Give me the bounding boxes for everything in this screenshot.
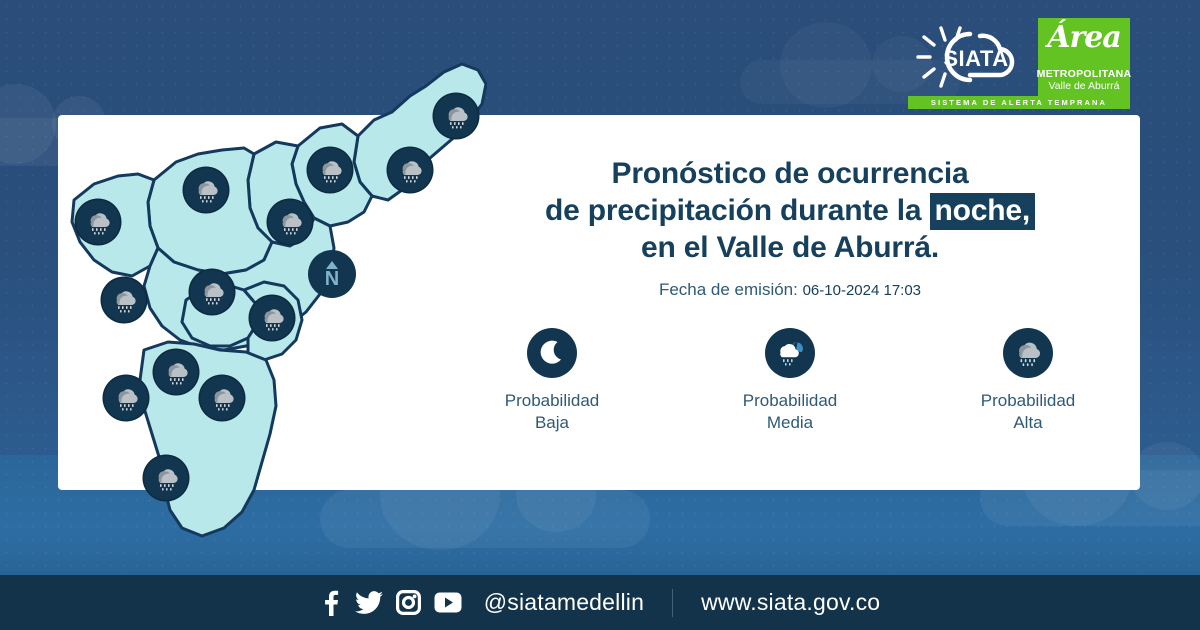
compass-north-icon: N: [308, 250, 356, 298]
title-line-2: de precipitación durante la noche,: [470, 192, 1110, 229]
issue-date-label: Fecha de emisión:: [659, 280, 798, 299]
cloud-heavy-rain-icon: [257, 303, 287, 333]
title-highlight-noche: noche,: [930, 193, 1035, 230]
legend-label-line1: Probabilidad: [743, 390, 838, 412]
forecast-panel: Pronóstico de ocurrencia de precipitació…: [470, 155, 1110, 434]
legend-label-line1: Probabilidad: [981, 390, 1076, 412]
legend-icon-wrap: [527, 328, 577, 378]
social-handle[interactable]: @siatamedellin: [484, 589, 644, 616]
cloud-heavy-rain-icon: [191, 175, 221, 205]
cloud-moon-rain-icon: [773, 336, 807, 370]
station-badge[interactable]: [102, 278, 146, 322]
title-line-1: Pronóstico de ocurrencia: [470, 155, 1110, 192]
legend-label-baja: Probabilidad Baja: [505, 390, 600, 434]
station-badge[interactable]: [268, 200, 312, 244]
station-badge[interactable]: [308, 148, 352, 192]
cloud-heavy-rain-icon: [1011, 336, 1045, 370]
station-badge[interactable]: [434, 94, 478, 138]
probability-legend: Probabilidad Baja: [470, 328, 1110, 434]
legend-label-media: Probabilidad Media: [743, 390, 838, 434]
station-badge[interactable]: [104, 376, 148, 420]
legend-item-media: Probabilidad Media: [715, 328, 865, 434]
legend-label-line2: Alta: [981, 412, 1076, 434]
station-badge[interactable]: [184, 168, 228, 212]
legend-label-line1: Probabilidad: [505, 390, 600, 412]
cloud-heavy-rain-icon: [161, 357, 191, 387]
infographic-root: N Pronóstico de ocurrencia de precipitac…: [0, 0, 1200, 630]
valle-de-aburra-map: N: [58, 50, 488, 570]
logo-group: SIATA Área METROPOLITANA Valle de Aburrá: [908, 18, 1130, 96]
cloud-heavy-rain-icon: [441, 101, 471, 131]
compass-label: N: [325, 270, 339, 288]
page-title: Pronóstico de ocurrencia de precipitació…: [470, 155, 1110, 266]
cloud-heavy-rain-icon: [395, 155, 425, 185]
legend-item-baja: Probabilidad Baja: [477, 328, 627, 434]
issue-date: Fecha de emisión: 06-10-2024 17:03: [470, 280, 1110, 300]
legend-icon-wrap: [1003, 328, 1053, 378]
siata-wordmark: SIATA: [943, 46, 1008, 71]
cloud-heavy-rain-icon: [83, 207, 113, 237]
twitter-icon[interactable]: [355, 591, 383, 615]
footer-bar: @siatamedellin www.siata.gov.co: [0, 575, 1200, 630]
station-badge[interactable]: [144, 456, 188, 500]
station-badge[interactable]: [190, 270, 234, 314]
station-badge[interactable]: [200, 376, 244, 420]
legend-icon-wrap: [765, 328, 815, 378]
area-line-2: Valle de Aburrá: [1048, 80, 1119, 92]
station-badge[interactable]: [76, 200, 120, 244]
facebook-icon[interactable]: [320, 590, 342, 616]
cloud-heavy-rain-icon: [315, 155, 345, 185]
station-badge[interactable]: [250, 296, 294, 340]
legend-item-alta: Probabilidad Alta: [953, 328, 1103, 434]
issue-date-value: 06-10-2024 17:03: [803, 282, 921, 299]
cloud-heavy-rain-icon: [275, 207, 305, 237]
cloud-heavy-rain-icon: [151, 463, 181, 493]
station-badge[interactable]: [154, 350, 198, 394]
moon-icon: [535, 336, 569, 370]
social-links: [320, 590, 462, 616]
legend-label-line2: Baja: [505, 412, 600, 434]
footer-divider: [672, 589, 673, 617]
instagram-icon[interactable]: [396, 590, 421, 615]
station-badge[interactable]: [388, 148, 432, 192]
youtube-icon[interactable]: [434, 592, 462, 613]
title-line-2-text: de precipitación durante la: [545, 194, 921, 227]
area-line-1: METROPOLITANA: [1037, 68, 1132, 80]
siata-tagline: SISTEMA DE ALERTA TEMPRANA: [931, 98, 1107, 107]
website-url[interactable]: www.siata.gov.co: [701, 589, 880, 616]
legend-label-alta: Probabilidad Alta: [981, 390, 1076, 434]
siata-logo: SIATA: [908, 18, 1038, 96]
legend-label-line2: Media: [743, 412, 838, 434]
siata-sun-cloud-icon: SIATA: [908, 18, 1038, 96]
siata-tagline-bar: SISTEMA DE ALERTA TEMPRANA: [908, 96, 1130, 109]
area-metropolitana-logo: Área METROPOLITANA Valle de Aburrá: [1038, 18, 1130, 96]
area-script-wordmark: Área: [1038, 20, 1130, 55]
title-line-3: en el Valle de Aburrá.: [470, 229, 1110, 266]
cloud-heavy-rain-icon: [207, 383, 237, 413]
cloud-heavy-rain-icon: [197, 277, 227, 307]
cloud-heavy-rain-icon: [111, 383, 141, 413]
cloud-heavy-rain-icon: [109, 285, 139, 315]
